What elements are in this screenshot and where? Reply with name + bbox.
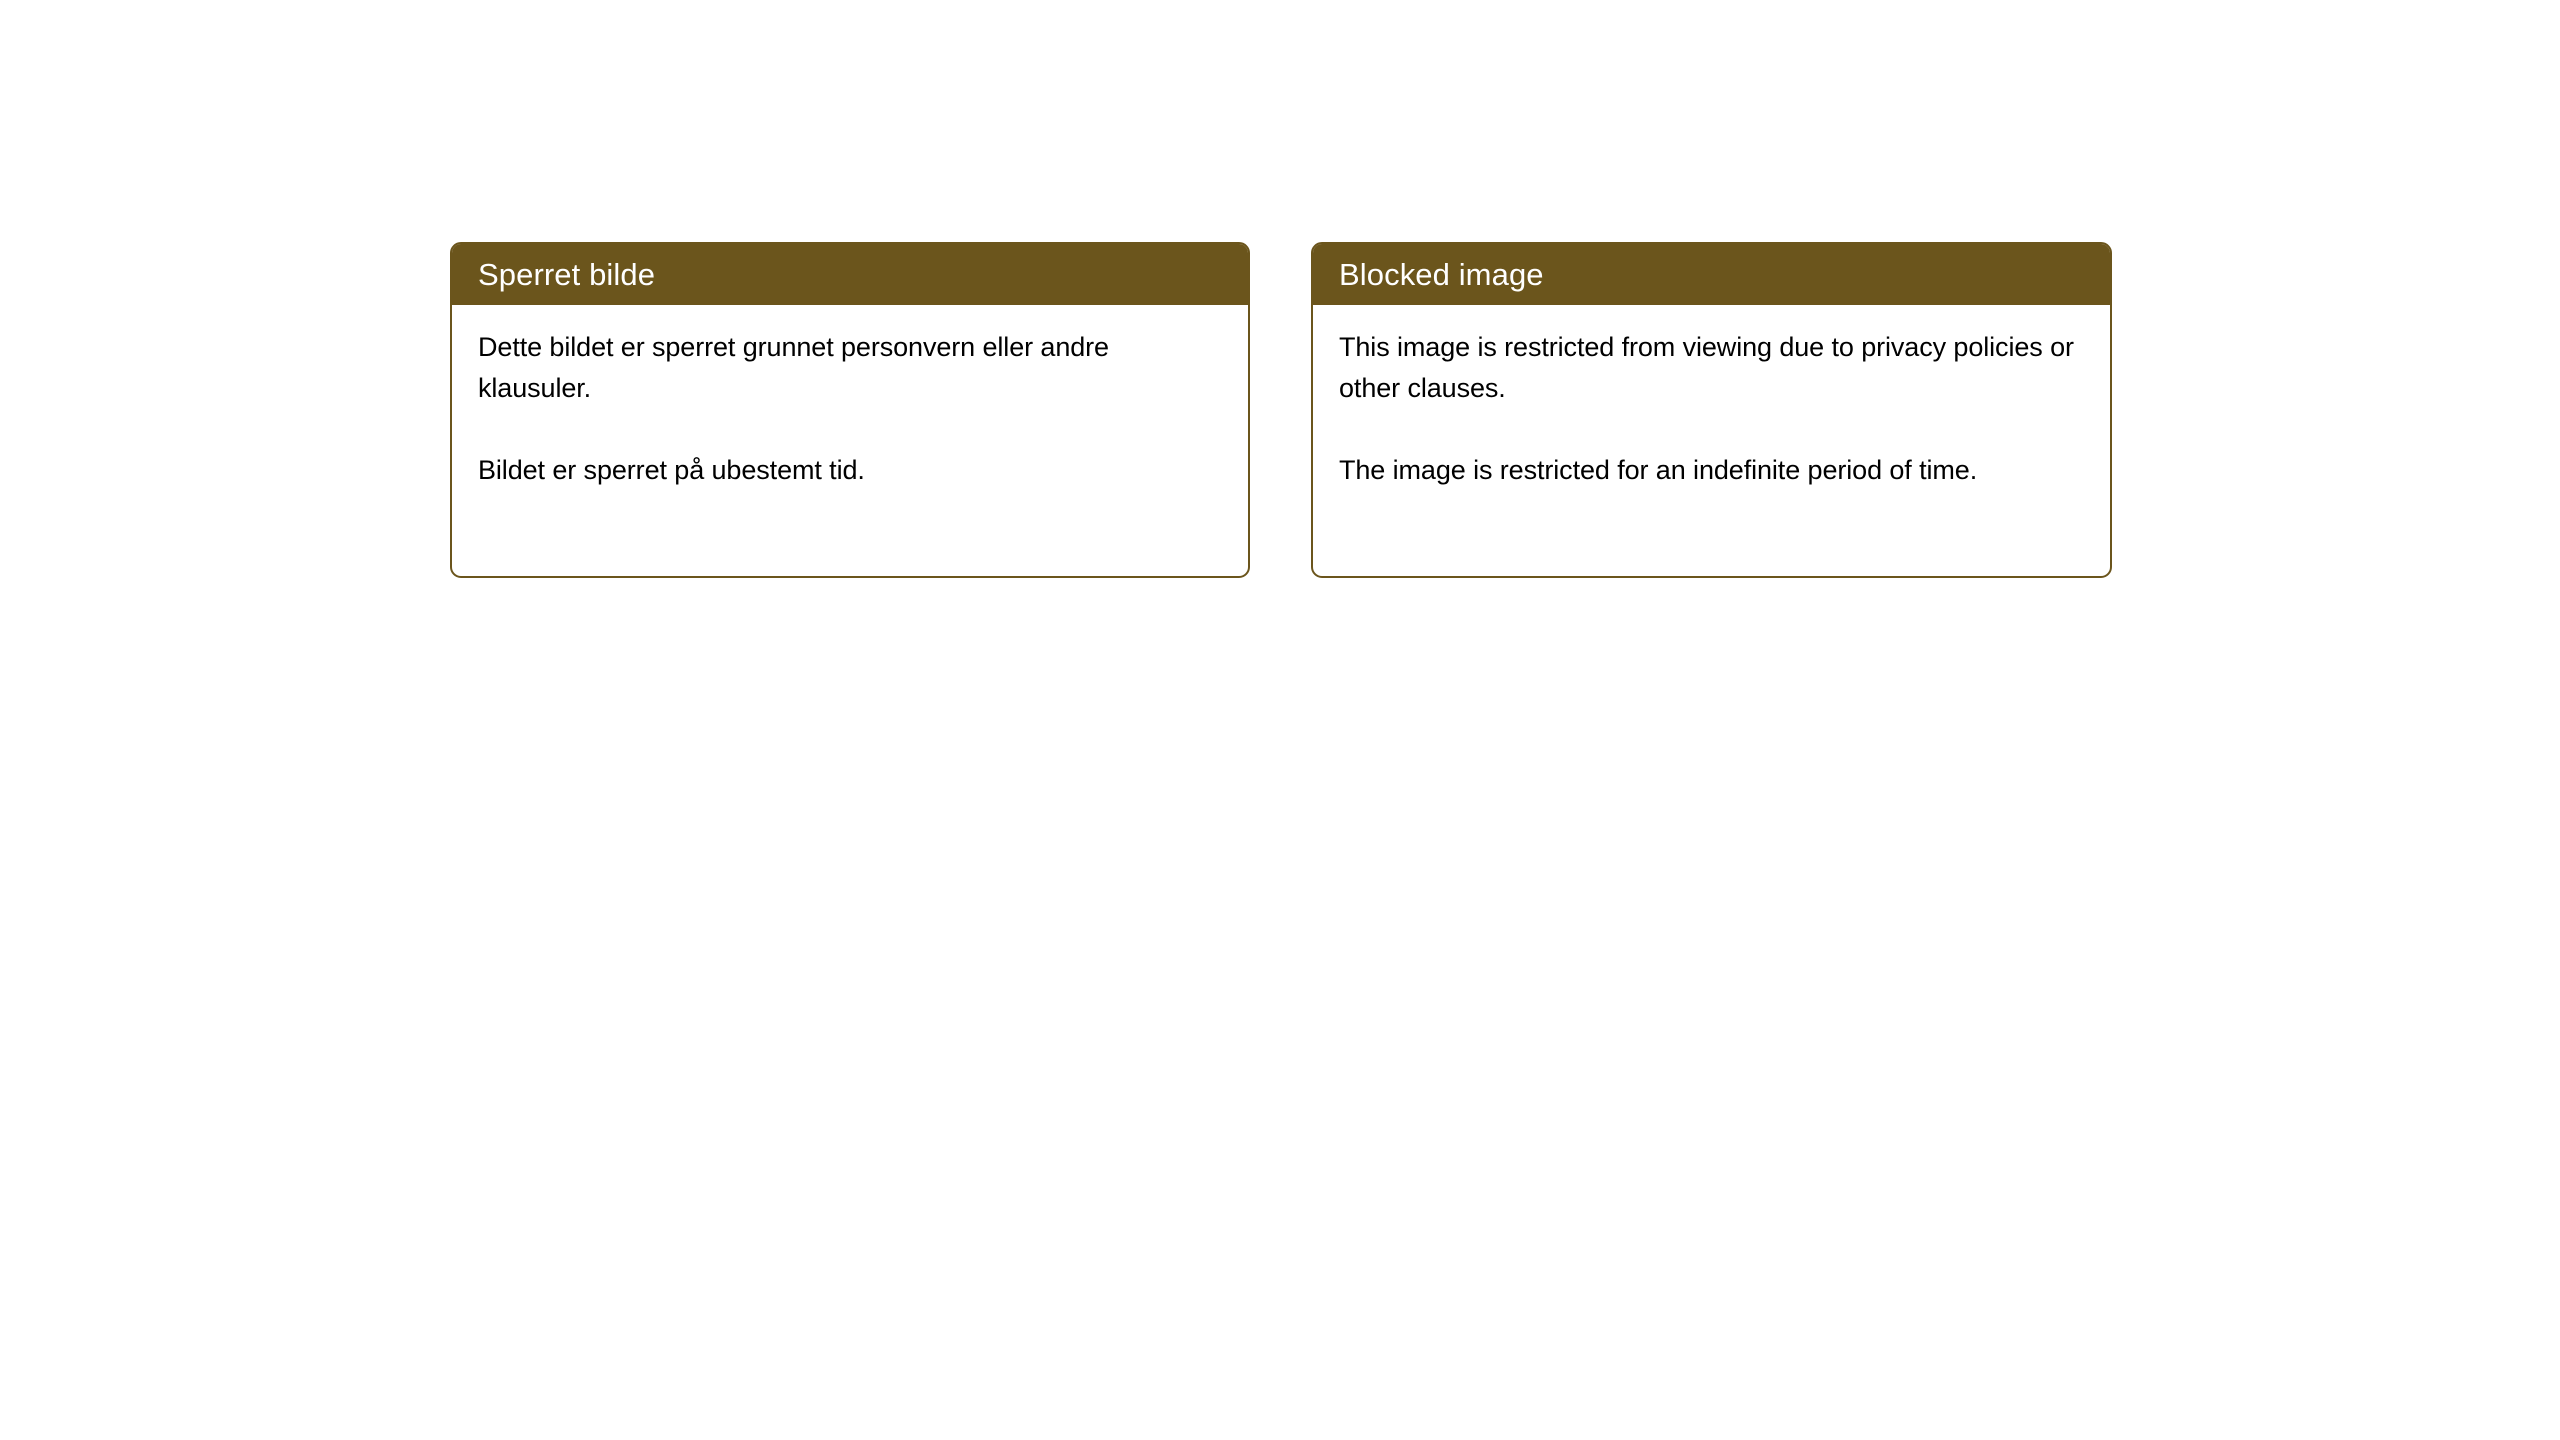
notice-header-no: Sperret bilde: [452, 244, 1248, 305]
notice-body-no: Dette bildet er sperret grunnet personve…: [452, 305, 1248, 491]
notice-title-no: Sperret bilde: [478, 259, 655, 290]
notice-header-en: Blocked image: [1313, 244, 2110, 305]
notice-paragraph-secondary-en: The image is restricted for an indefinit…: [1339, 450, 2088, 491]
blocked-image-notice-no: Sperret bilde Dette bildet er sperret gr…: [450, 242, 1250, 578]
notice-paragraph-secondary-no: Bildet er sperret på ubestemt tid.: [478, 450, 1226, 491]
notice-paragraph-primary-no: Dette bildet er sperret grunnet personve…: [478, 327, 1226, 409]
page-canvas: Sperret bilde Dette bildet er sperret gr…: [0, 0, 2560, 1440]
notice-body-en: This image is restricted from viewing du…: [1313, 305, 2110, 491]
notice-paragraph-primary-en: This image is restricted from viewing du…: [1339, 327, 2088, 409]
notice-title-en: Blocked image: [1339, 259, 1544, 290]
blocked-image-notice-en: Blocked image This image is restricted f…: [1311, 242, 2112, 578]
